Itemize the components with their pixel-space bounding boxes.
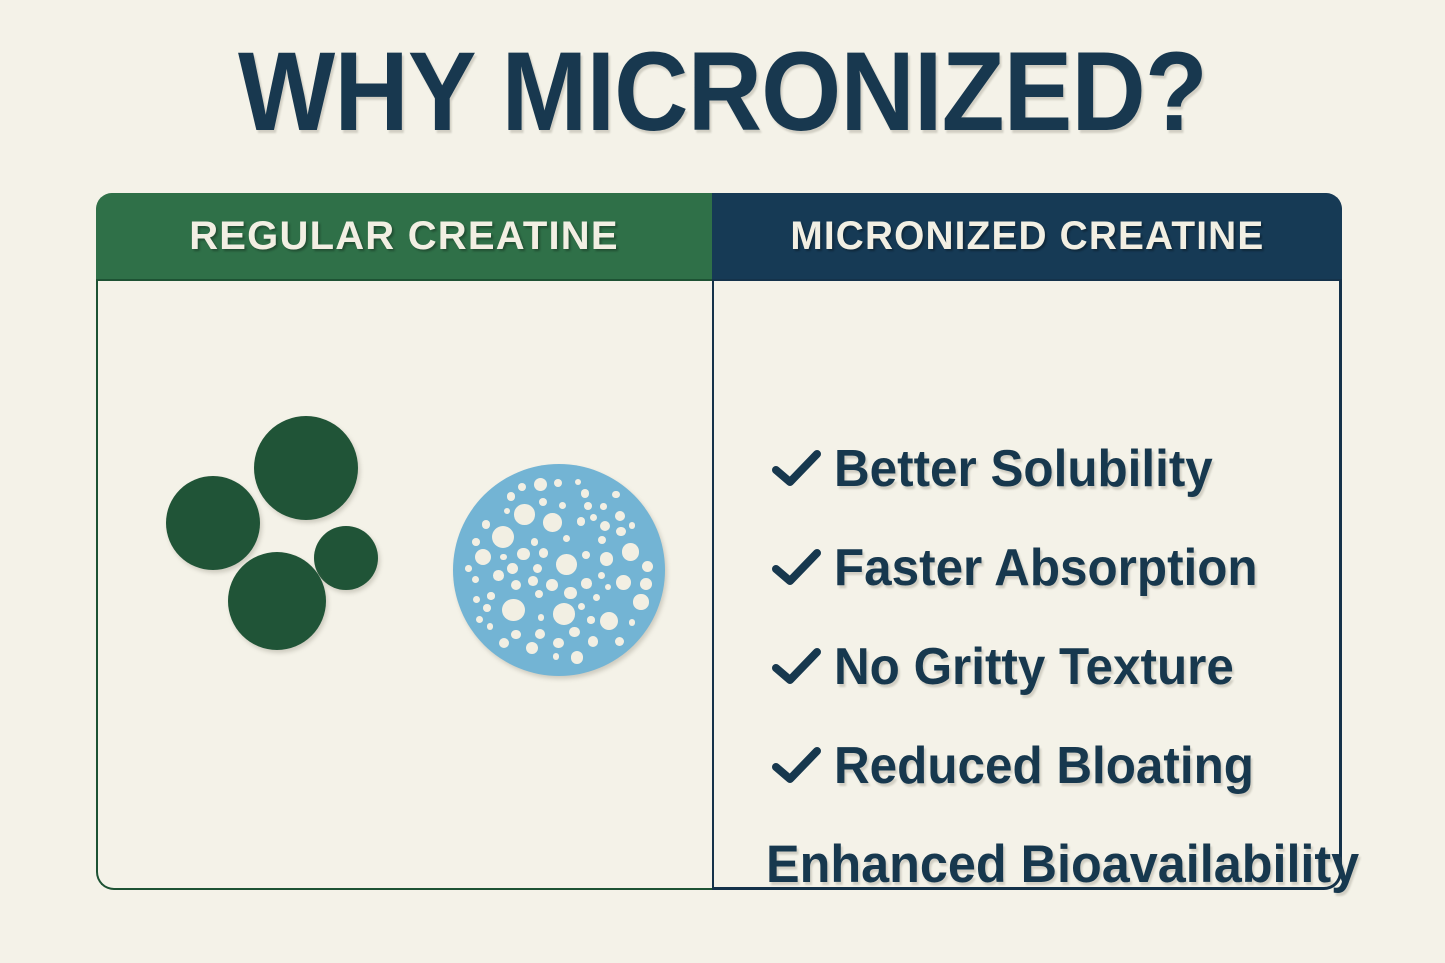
- check-icon: [772, 545, 834, 591]
- check-icon: [772, 446, 834, 492]
- micronized-dot: [553, 653, 559, 659]
- micronized-dot: [528, 576, 538, 586]
- benefit-label: Enhanced Bioavailability: [766, 839, 1359, 891]
- micronized-dot: [487, 623, 494, 630]
- micronized-dot: [502, 599, 524, 621]
- page-title: WHY MICRONIZED?: [58, 36, 1387, 148]
- benefit-item: Enhanced Bioavailability: [772, 815, 1412, 914]
- micronized-dot: [472, 538, 480, 546]
- micronized-dot: [584, 502, 592, 510]
- coarse-particle-bottom: [228, 552, 326, 650]
- micronized-dot: [633, 594, 648, 609]
- micronized-dot: [482, 520, 490, 528]
- micronized-dot: [554, 479, 562, 487]
- micronized-dot: [526, 642, 538, 654]
- micronized-dot: [629, 522, 635, 528]
- micronized-dot: [499, 638, 509, 648]
- micronized-dot: [559, 502, 566, 509]
- micronized-dot: [500, 554, 507, 561]
- micronized-dot: [615, 637, 624, 646]
- micronized-dot: [612, 491, 619, 498]
- micronized-dot: [588, 636, 599, 647]
- micronized-dot: [556, 554, 577, 575]
- benefit-label: Reduced Bloating: [834, 740, 1254, 792]
- benefit-list: Better SolubilityFaster AbsorptionNo Gri…: [772, 419, 1412, 914]
- coarse-particle-large: [254, 416, 358, 520]
- micronized-dot: [507, 492, 515, 500]
- coarse-particle-medium: [166, 476, 260, 570]
- micronized-dot: [600, 503, 606, 509]
- micronized-dot: [543, 513, 562, 532]
- micronized-dot: [615, 511, 625, 521]
- micronized-creatine-header: MICRONIZED CREATINE: [712, 193, 1342, 281]
- micronized-creatine-header-label: MICRONIZED CREATINE: [790, 214, 1264, 259]
- micronized-dot: [569, 627, 579, 637]
- regular-creatine-header-label: REGULAR CREATINE: [189, 214, 619, 259]
- micronized-dot: [507, 563, 518, 574]
- regular-creatine-panel: REGULAR CREATINE: [96, 193, 712, 890]
- benefit-label: Better Solubility: [834, 443, 1213, 495]
- micronized-creatine-panel: MICRONIZED CREATINE Better SolubilityFas…: [712, 193, 1342, 890]
- coarse-particle-small: [314, 526, 378, 590]
- micronized-dot: [581, 578, 592, 589]
- micronized-dot: [511, 580, 521, 590]
- micronized-dot: [534, 478, 547, 491]
- regular-creatine-body: [98, 281, 712, 884]
- micronized-dot: [511, 630, 520, 639]
- micronized-dot: [640, 578, 652, 590]
- micronized-dot: [582, 551, 590, 559]
- benefit-label: Faster Absorption: [834, 542, 1258, 594]
- micronized-dot: [504, 508, 510, 514]
- micronized-dot: [487, 592, 494, 599]
- micronized-dot: [581, 489, 589, 497]
- micronized-creatine-body: Better SolubilityFaster AbsorptionNo Gri…: [714, 281, 1339, 882]
- comparison-table: REGULAR CREATINE MICRONIZED CREATINE Bet…: [96, 193, 1342, 890]
- micronized-dot: [553, 603, 575, 625]
- micronized-dot: [598, 572, 605, 579]
- benefit-label: No Gritty Texture: [834, 641, 1234, 693]
- coarse-creatine-particles: [166, 416, 396, 676]
- benefit-item: Reduced Bloating: [772, 716, 1412, 815]
- micronized-dot: [538, 614, 544, 620]
- micronized-dot: [616, 575, 631, 590]
- check-icon: [772, 743, 834, 789]
- micronized-dot: [616, 527, 625, 536]
- check-icon: [772, 644, 834, 690]
- benefit-item: Faster Absorption: [772, 518, 1412, 617]
- micronized-dot: [465, 565, 472, 572]
- micronized-creatine-particle: [453, 464, 665, 676]
- micronized-dot: [629, 619, 636, 626]
- micronized-dot: [531, 538, 539, 546]
- micronized-dot: [564, 587, 577, 600]
- regular-creatine-header: REGULAR CREATINE: [96, 193, 712, 281]
- micronized-dot: [514, 504, 534, 524]
- micronized-dot: [587, 616, 594, 623]
- benefit-item: Better Solubility: [772, 419, 1412, 518]
- micronized-dot: [600, 552, 613, 565]
- micronized-dot: [539, 548, 549, 558]
- benefit-item: No Gritty Texture: [772, 617, 1412, 716]
- micronized-dot: [533, 564, 542, 573]
- micronized-dot: [493, 570, 504, 581]
- micronized-dot: [483, 604, 491, 612]
